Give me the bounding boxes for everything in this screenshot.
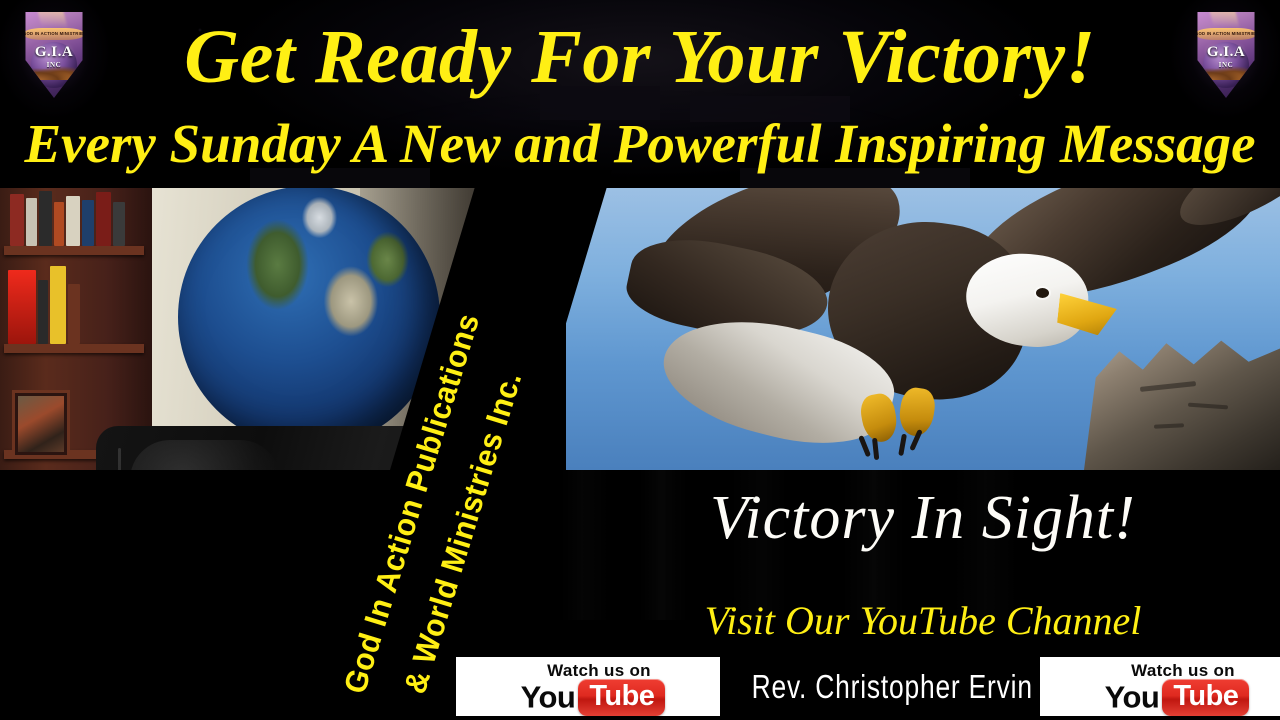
youtube-badge-left[interactable]: Watch us on YouTube: [456, 657, 720, 716]
youtube-badge-wordmark: YouTube: [1040, 679, 1280, 716]
headline-secondary: Every Sunday A New and Powerful Inspirin…: [0, 112, 1280, 176]
eagle-eye: [1036, 288, 1049, 298]
promotional-poster: GOD IN ACTION MINISTRIES G.I.A INC GOD I…: [0, 0, 1280, 720]
tree-stump: [1084, 338, 1280, 470]
headline-primary: Get Ready For Your Victory!: [0, 14, 1280, 100]
bald-eagle-photo: [566, 188, 1280, 470]
youtube-badge-right[interactable]: Watch us on YouTube: [1040, 657, 1280, 716]
earth-globe-mural: [178, 188, 440, 448]
youtube-badge-wordmark: YouTube: [456, 679, 720, 716]
youtube-word-tube: Tube: [578, 679, 665, 716]
framed-photo-image: [18, 396, 64, 452]
youtube-word-tube: Tube: [1162, 679, 1249, 716]
youtube-word-you: You: [1105, 680, 1160, 715]
youtube-badge-top-text: Watch us on: [456, 661, 720, 681]
youtube-word-you: You: [521, 680, 576, 715]
youtube-badge-top-text: Watch us on: [1040, 661, 1280, 681]
speaker-name: Rev. Christopher Ervin: [752, 662, 1005, 712]
tagline: Victory In Sight!: [566, 480, 1280, 556]
framed-photo: [12, 390, 70, 458]
call-to-action: Visit Our YouTube Channel: [566, 596, 1280, 646]
